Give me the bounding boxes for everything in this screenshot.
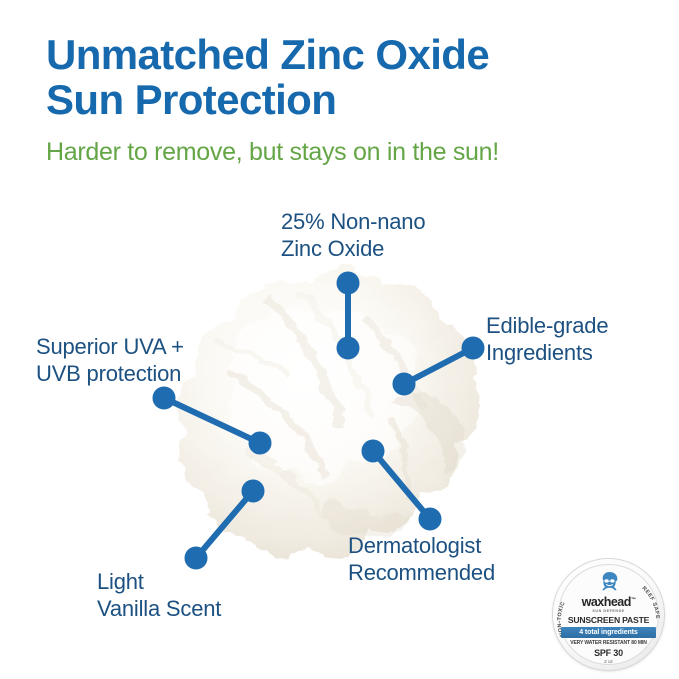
surfer-head-icon: [600, 571, 619, 593]
tin-spf-value: SPF 30: [553, 648, 664, 658]
tin-water-resistance: VERY WATER RESISTANT 80 MIN: [553, 640, 664, 646]
tin-brand-name: waxhead™: [553, 595, 664, 609]
callout-label-uva-uvb: Superior UVA + UVB protection: [36, 333, 271, 387]
callout-label-dermatologist: Dermatologist Recommended: [348, 532, 578, 586]
tin-ingredients-band: 4 total ingredients: [561, 627, 656, 638]
tin-size: 2 oz: [553, 659, 664, 664]
product-tin[interactable]: NON-TOXIC REEF SAFE waxhead™ SUN DEFENSE…: [553, 559, 664, 670]
tin-trademark: ™: [631, 597, 636, 603]
callout-label-zinc-oxide: 25% Non-nano Zinc Oxide: [281, 208, 521, 262]
callout-label-edible-grade: Edible-grade Ingredients: [486, 312, 676, 366]
tin-product-name: SUNSCREEN PASTE: [553, 615, 664, 625]
tin-label-face: NON-TOXIC REEF SAFE waxhead™ SUN DEFENSE…: [553, 559, 664, 670]
callout-label-vanilla: Light Vanilla Scent: [97, 568, 317, 622]
infographic-page: Unmatched Zinc Oxide Sun Protection Hard…: [0, 0, 679, 679]
tin-tagline: SUN DEFENSE: [553, 609, 664, 613]
